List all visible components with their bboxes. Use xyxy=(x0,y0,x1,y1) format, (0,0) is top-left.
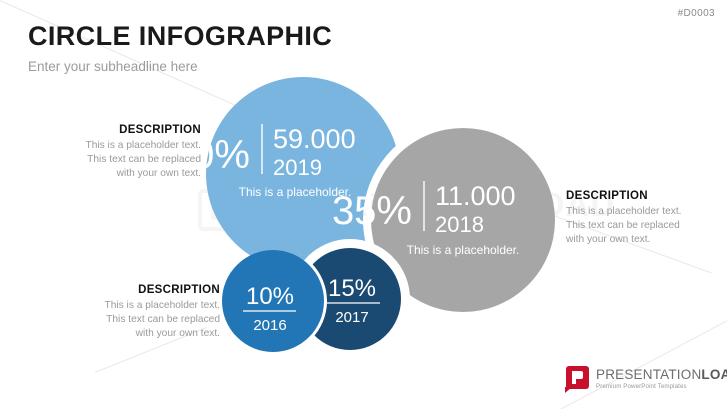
logo-name: PRESENTATIONLOAD® xyxy=(596,367,727,382)
segment-2016[interactable]: 10% 2016 xyxy=(222,250,324,352)
description-bottom-left: DESCRIPTION This is a placeholder text. … xyxy=(72,284,220,341)
segment-2016-circle[interactable] xyxy=(222,250,324,352)
segment-2018[interactable]: 35% 11.000 2018 This is a placeholder. xyxy=(332,128,555,312)
description-title: DESCRIPTION xyxy=(53,124,201,136)
segment-2019-year: 2019 xyxy=(273,155,322,180)
segment-2016-year: 2016 xyxy=(253,317,286,334)
decorative-hairline xyxy=(560,301,727,409)
segment-2019-value: 59.000 xyxy=(273,124,356,154)
description-title: DESCRIPTION xyxy=(72,284,220,296)
logo-text-block: PRESENTATIONLOAD® Premium PowerPoint Tem… xyxy=(596,366,727,390)
segment-2018-circle[interactable] xyxy=(371,128,555,312)
segment-2017-circle[interactable] xyxy=(299,248,401,350)
description-line: with your own text. xyxy=(53,167,201,181)
segment-2016-percent: 10% xyxy=(246,283,294,310)
description-body: This is a placeholder text. This text ca… xyxy=(53,139,201,181)
logo-tagline: Premium PowerPoint Templates xyxy=(596,383,727,390)
description-line: This is a placeholder text. xyxy=(72,299,220,313)
logo-p-bowl xyxy=(575,371,583,379)
template-code: #D0003 xyxy=(678,8,715,19)
description-title: DESCRIPTION xyxy=(566,190,714,202)
description-right: DESCRIPTION This is a placeholder text. … xyxy=(566,190,714,247)
watermark-mark-icon xyxy=(198,189,242,231)
presentationload-logo[interactable]: PRESENTATIONLOAD® Premium PowerPoint Tem… xyxy=(566,366,727,390)
segment-2019[interactable]: 40% 59.000 2019 This is a placeholder. xyxy=(170,77,400,271)
segment-2019-caption: This is a placeholder. xyxy=(239,185,352,199)
description-body: This is a placeholder text. This text ca… xyxy=(566,205,714,247)
slide-header: CIRCLE INFOGRAPHIC Enter your subheadlin… xyxy=(28,22,332,74)
logo-bubble-tail xyxy=(565,387,572,393)
description-line: This text can be replaced xyxy=(566,219,714,233)
description-line: with your own text. xyxy=(566,233,714,247)
segment-2018-caption: This is a placeholder. xyxy=(407,243,520,257)
page-subtitle: Enter your subheadline here xyxy=(28,59,332,74)
logo-name-light: PRESENTATION xyxy=(596,367,701,382)
page-title: CIRCLE INFOGRAPHIC xyxy=(28,22,332,52)
logo-name-bold: LOAD xyxy=(701,367,727,382)
description-line: This text can be replaced xyxy=(72,313,220,327)
slide-canvas: CIRCLE INFOGRAPHIC Enter your subheadlin… xyxy=(0,0,727,409)
segment-2018-percent: 35% xyxy=(332,189,412,233)
description-body: This is a placeholder text. This text ca… xyxy=(72,299,220,341)
segment-2018-year: 2018 xyxy=(435,212,484,237)
description-top-left: DESCRIPTION This is a placeholder text. … xyxy=(53,124,201,181)
description-line: with your own text. xyxy=(72,327,220,341)
description-line: This is a placeholder text. xyxy=(53,139,201,153)
description-line: This is a placeholder text. xyxy=(566,205,714,219)
watermark-text: PRESENTATIONLOAD xyxy=(252,186,615,224)
segment-2017-year: 2017 xyxy=(335,309,368,326)
segment-2019-circle[interactable] xyxy=(206,77,400,271)
presentationload-watermark: PRESENTATIONLOAD xyxy=(196,186,576,228)
segment-2017[interactable]: 15% 2017 xyxy=(299,248,401,350)
presentationload-bubble-icon xyxy=(566,366,589,389)
description-line: This text can be replaced xyxy=(53,153,201,167)
segment-2018-value: 11.000 xyxy=(435,181,516,211)
watermark-mark-inner-icon xyxy=(211,202,235,220)
segment-2017-percent: 15% xyxy=(328,275,376,302)
